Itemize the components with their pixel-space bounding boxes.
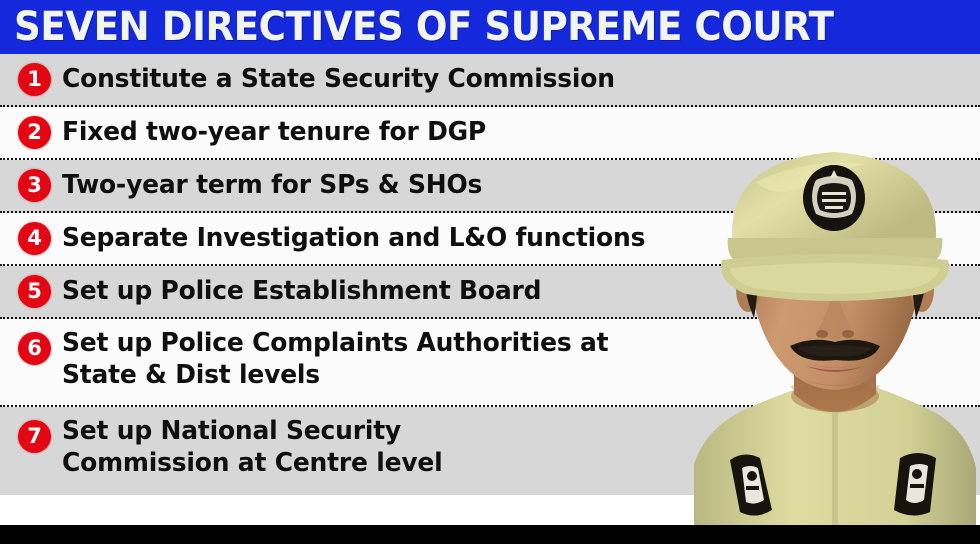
- list-item: 1 Constitute a State Security Commission: [0, 54, 980, 107]
- list-item: 7 Set up National Security Commission at…: [0, 407, 980, 495]
- list-item: 2 Fixed two-year tenure for DGP: [0, 107, 980, 160]
- item-text: Fixed two-year tenure for DGP: [62, 117, 943, 149]
- item-text: Separate Investigation and L&O functions: [62, 223, 943, 255]
- list-item: 4 Separate Investigation and L&O functio…: [0, 213, 980, 266]
- item-text: Set up Police Complaints Authorities at …: [62, 319, 943, 391]
- item-number-badge: 5: [18, 275, 51, 308]
- directives-list: 1 Constitute a State Security Commission…: [0, 54, 980, 525]
- list-item: 3 Two-year term for SPs & SHOs: [0, 160, 980, 213]
- list-item: 6 Set up Police Complaints Authorities a…: [0, 319, 980, 407]
- item-text: Set up Police Establishment Board: [62, 276, 943, 308]
- item-number-badge: 7: [18, 420, 51, 453]
- item-number-badge: 3: [18, 169, 51, 202]
- item-number-badge: 1: [18, 63, 51, 96]
- page-title: SEVEN DIRECTIVES OF SUPREME COURT: [14, 7, 834, 47]
- infographic-seven-directives: SEVEN DIRECTIVES OF SUPREME COURT 1 Cons…: [0, 0, 980, 544]
- item-number-badge: 4: [18, 222, 51, 255]
- list-item: 5 Set up Police Establishment Board: [0, 266, 980, 319]
- item-text: Constitute a State Security Commission: [62, 64, 943, 96]
- item-number-badge: 2: [18, 116, 51, 149]
- bottom-bar: [0, 525, 980, 544]
- item-text: Set up National Security Commission at C…: [62, 407, 943, 479]
- item-text: Two-year term for SPs & SHOs: [62, 170, 943, 202]
- header-banner: SEVEN DIRECTIVES OF SUPREME COURT: [0, 0, 980, 54]
- item-number-badge: 6: [18, 332, 51, 365]
